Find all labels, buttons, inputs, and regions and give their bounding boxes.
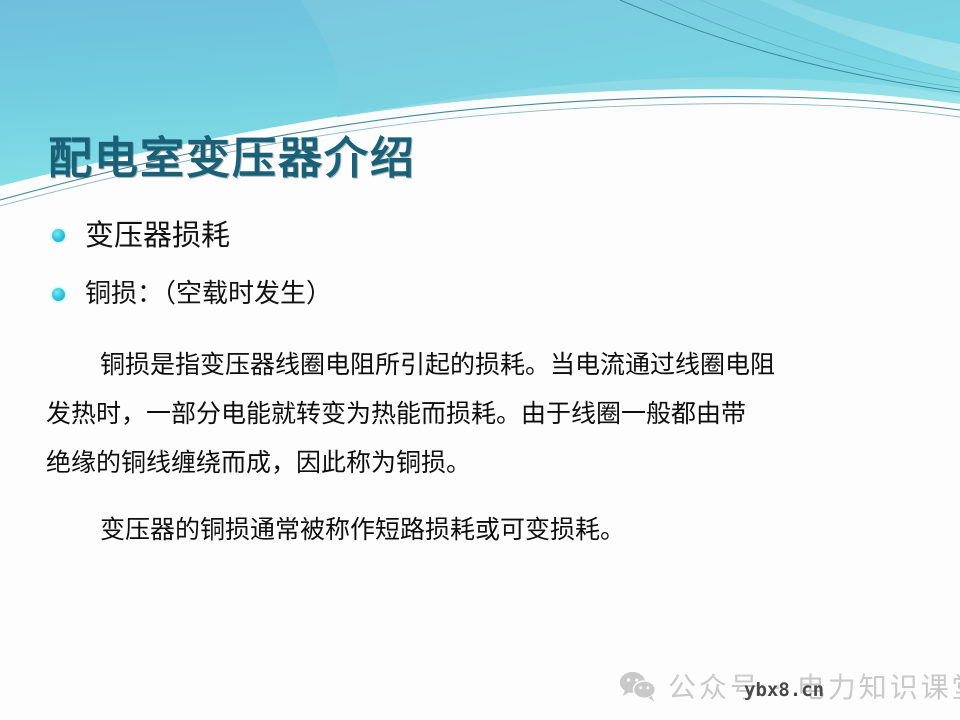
page-title: 配电室变压器介绍: [48, 122, 416, 186]
slide-canvas: 配电室变压器介绍 变压器损耗 铜损：（空载时发生） 铜损是指变压器线圈电阻所引起…: [0, 0, 960, 720]
wechat-icon: [618, 669, 658, 703]
bullet-dot-icon: [52, 288, 65, 301]
site-stamp: ybx8.cn: [744, 679, 824, 701]
bullet-label: 铜损：（空载时发生）: [85, 279, 332, 310]
body-line: 变压器的铜损通常被称作短路损耗或可变损耗。: [46, 505, 936, 554]
bullet-dot-icon: [52, 229, 65, 242]
list-item: 铜损：（空载时发生）: [52, 279, 912, 310]
body-line: 绝缘的铜线缠绕而成，因此称为铜损。: [46, 438, 936, 487]
list-item: 变压器损耗: [52, 218, 912, 253]
bullet-list: 变压器损耗 铜损：（空载时发生）: [52, 218, 912, 336]
body-line: 发热时，一部分电能就转变为热能而损耗。由于线圈一般都由带: [46, 389, 936, 438]
body-line: 铜损是指变压器线圈电阻所引起的损耗。当电流通过线圈电阻: [46, 340, 936, 389]
body-text: 铜损是指变压器线圈电阻所引起的损耗。当电流通过线圈电阻 发热时，一部分电能就转变…: [46, 340, 936, 554]
bullet-label: 变压器损耗: [85, 218, 230, 253]
